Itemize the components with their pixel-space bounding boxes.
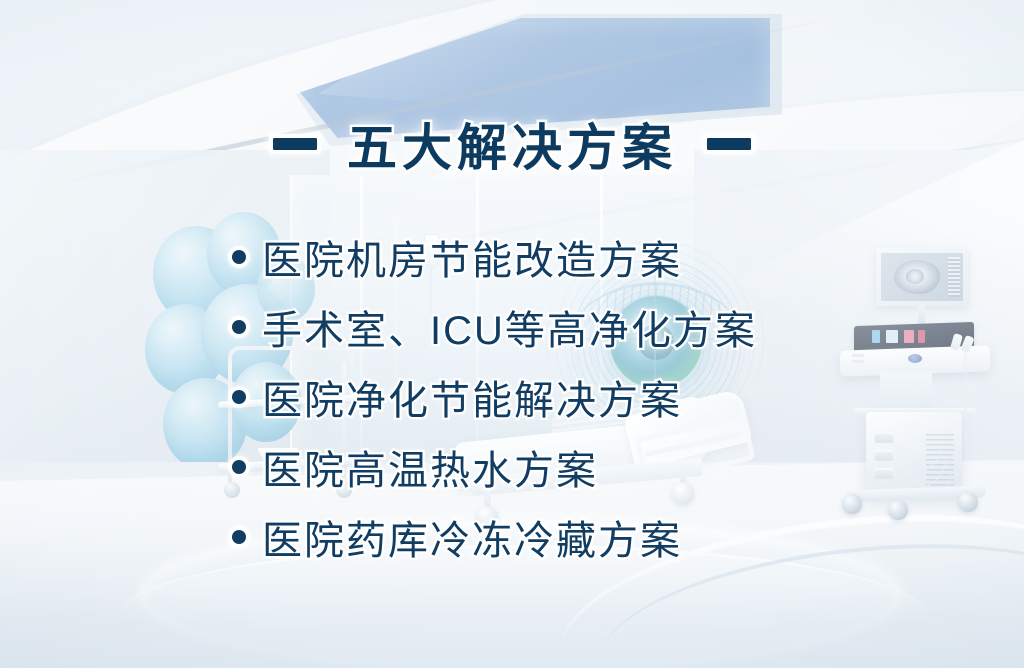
list-item: 医院净化节能解决方案 bbox=[232, 366, 912, 428]
bullet-dot-icon bbox=[232, 530, 246, 544]
list-item-label: 医院净化节能解决方案 bbox=[262, 368, 682, 426]
list-item: 医院药库冷冻冷藏方案 bbox=[232, 506, 912, 568]
title-dash-left bbox=[273, 138, 317, 150]
list-item-label: 手术室、ICU等高净化方案 bbox=[262, 298, 757, 356]
poster-content: 五大解决方案 医院机房节能改造方案 手术室、ICU等高净化方案 医院净化节能解决… bbox=[0, 0, 1024, 668]
poster-canvas: 五大解决方案 医院机房节能改造方案 手术室、ICU等高净化方案 医院净化节能解决… bbox=[0, 0, 1024, 668]
solutions-list: 医院机房节能改造方案 手术室、ICU等高净化方案 医院净化节能解决方案 医院高温… bbox=[232, 226, 912, 568]
list-item: 医院机房节能改造方案 bbox=[232, 226, 912, 288]
title-dash-right bbox=[707, 138, 751, 150]
bullet-dot-icon bbox=[232, 390, 246, 404]
title-row: 五大解决方案 bbox=[0, 108, 1024, 180]
list-item-label: 医院机房节能改造方案 bbox=[262, 228, 682, 286]
list-item: 手术室、ICU等高净化方案 bbox=[232, 296, 912, 358]
list-item: 医院高温热水方案 bbox=[232, 436, 912, 498]
page-title: 五大解决方案 bbox=[347, 108, 677, 180]
bullet-dot-icon bbox=[232, 460, 246, 474]
bullet-dot-icon bbox=[232, 320, 246, 334]
list-item-label: 医院药库冷冻冷藏方案 bbox=[262, 508, 682, 566]
bullet-dot-icon bbox=[232, 250, 246, 264]
list-item-label: 医院高温热水方案 bbox=[262, 438, 598, 496]
